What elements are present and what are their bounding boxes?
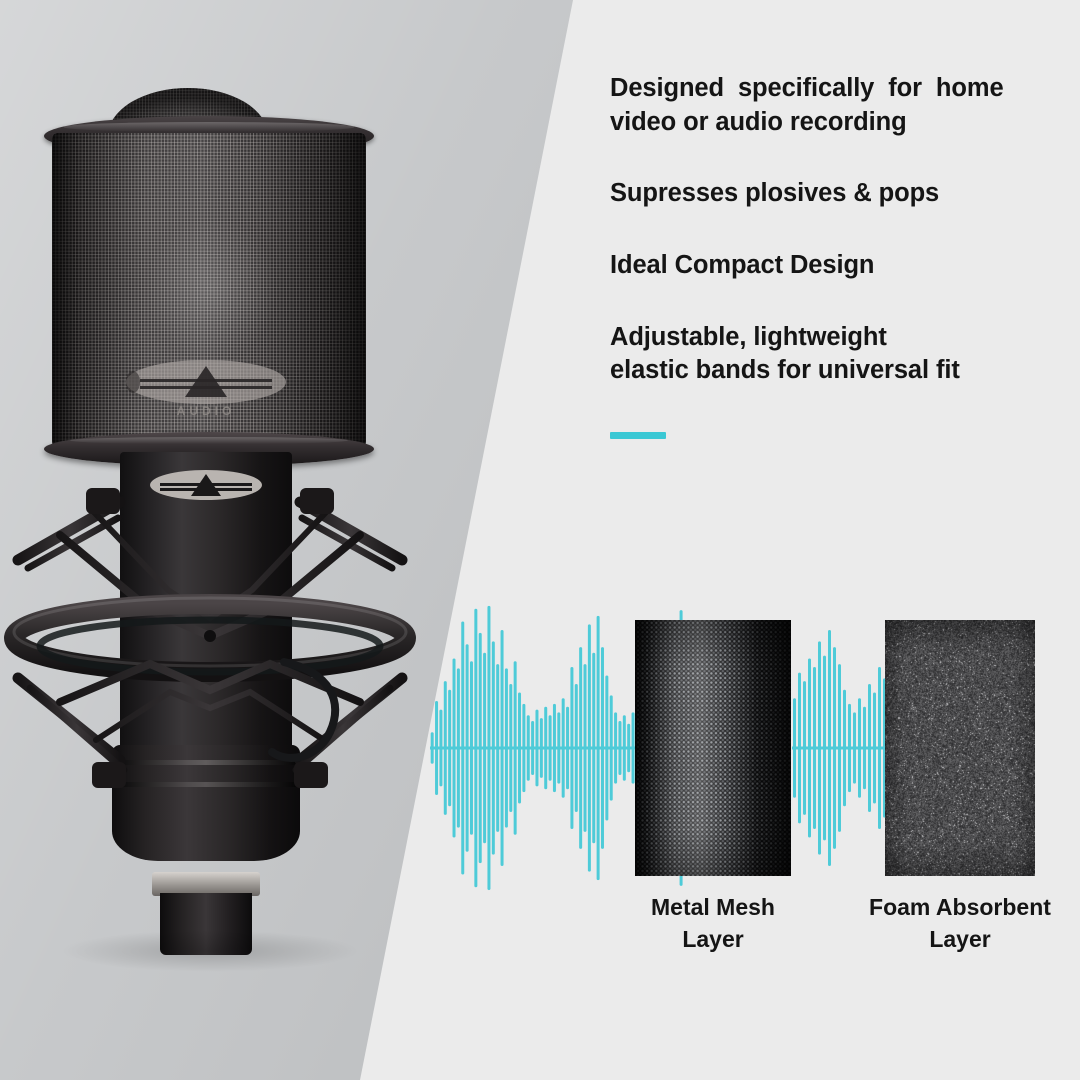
- foam-label-line-2: Layer: [929, 926, 990, 952]
- metal-mesh-label-line-2: Layer: [682, 926, 743, 952]
- feature-item-1: Designed specifically for home video or …: [610, 72, 1040, 139]
- pop-filter-audio-wordmark: AUDIO: [126, 404, 286, 418]
- feature-4-line-1: Adjustable, lightweight: [610, 321, 1040, 355]
- filter-layer-diagram: Metal Mesh Layer Foam Absorbent Layer: [0, 600, 1080, 1000]
- feature-item-3: Ideal Compact Design: [610, 249, 1040, 283]
- feature-item-2: Supresses plosives & pops: [610, 177, 1040, 211]
- feature-3-line-1: Ideal Compact Design: [610, 249, 1040, 283]
- feature-1-line-1: Designed specifically for home: [610, 72, 1040, 106]
- cyan-accent-rule: [610, 432, 666, 439]
- foam-label-line-1: Foam Absorbent: [869, 894, 1051, 920]
- feature-list: Designed specifically for home video or …: [610, 72, 1040, 388]
- feature-2-line-1: Supresses plosives & pops: [610, 177, 1040, 211]
- feature-item-4: Adjustable, lightweight elastic bands fo…: [610, 321, 1040, 388]
- feature-4-line-2: elastic bands for universal fit: [610, 354, 1040, 388]
- pop-filter-cad-logo: [126, 360, 286, 404]
- foam-layer-label: Foam Absorbent Layer: [845, 892, 1075, 955]
- metal-mesh-layer-panel: [635, 620, 791, 876]
- metal-mesh-label-line-1: Metal Mesh: [651, 894, 775, 920]
- feature-1-line-2: video or audio recording: [610, 106, 1040, 140]
- metal-mesh-layer-label: Metal Mesh Layer: [598, 892, 828, 955]
- foam-absorbent-layer-panel: [885, 620, 1035, 876]
- infographic-canvas: AUDIO: [0, 0, 1080, 1080]
